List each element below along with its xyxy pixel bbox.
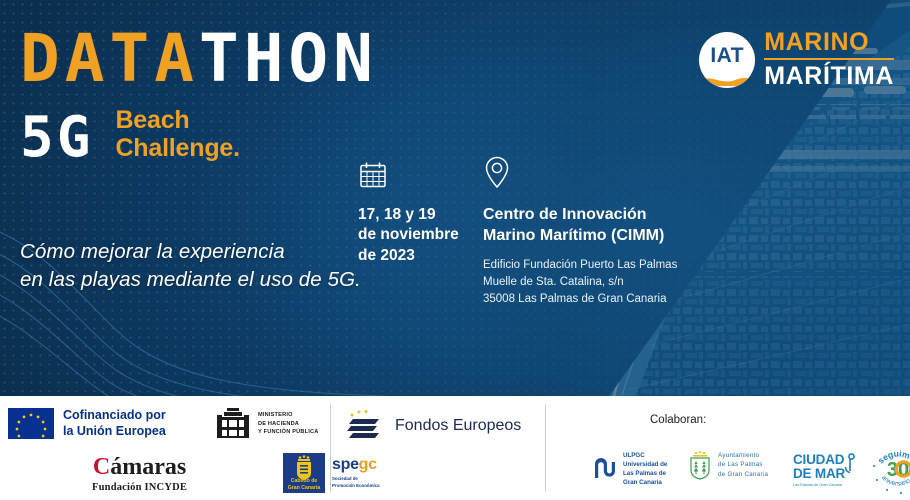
iat-word-maritima: MARÍTIMA [764,64,894,89]
ciudad-de-mar-line-2: DE MAR [793,467,845,481]
ciudad-de-mar-subtitle: Las Palmas de Gran Canaria [793,483,857,487]
fondos-europeos-icon [345,409,385,443]
eu-label: Cofinanciado por la Unión Europea [63,408,166,439]
ministerio-line-3: Y FUNCIÓN PÚBLICA [258,428,318,436]
iat-badge-label: IAT [699,44,755,68]
camaras-incyde-logo: Cámaras Fundación INCYDE [92,455,187,493]
ayuntamiento-label: Ayuntamiento de Las Palmas de Gran Canar… [718,451,768,479]
camaras-initial: C [93,454,110,480]
eu-label-line-1: Cofinanciado por [63,408,166,424]
iat-word-marino: MARINO [764,30,894,60]
challenge-line-2: Challenge. [115,134,239,162]
challenge-line-1: Beach [115,106,239,134]
venue-name-line-1: Centro de Innovación [483,204,698,225]
venue-address-line-2: Muelle de Sta. Catalina, s/n [483,274,698,291]
venue-address-line-3: 35008 Las Palmas de Gran Canaria [483,291,698,308]
ciudad-de-mar-row: CIUDAD DE MAR [793,453,857,481]
page-title: DATATHON [20,26,378,92]
eu-stars-icon [8,408,54,439]
spegc-sub-line-1: Sociedad de [332,476,380,483]
ayuntamiento-line-3: de Gran Canaria [718,470,768,479]
spain-coat-of-arms-icon [215,406,251,442]
calendar-icon [358,160,478,195]
title-part-thon: THON [199,20,378,97]
cabildo-shield-icon [283,453,325,481]
cabildo-line-2: Gran Canaria [283,485,325,492]
iat-wave-icon [699,70,755,86]
tagline-line-2: en las playas mediante el uso de 5G. [20,266,361,294]
european-union-logo: Cofinanciado por la Unión Europea [8,408,166,439]
ministerio-line-1: MINISTERIO [258,411,318,419]
eu-label-line-2: la Unión Europea [63,424,166,440]
tagline-line-1: Cómo mejorar la experiencia [20,238,361,266]
iat-badge-icon: IAT [699,32,755,88]
venue-name: Centro de Innovación Marino Marítimo (CI… [483,204,698,246]
ulpgc-line-4: Gran Canaria [623,479,667,488]
ulpgc-label: ULPGC Universidad de Las Palmas de Gran … [623,452,667,488]
tagline: Cómo mejorar la experiencia en las playa… [20,238,361,295]
anchor-icon [843,453,857,475]
ulpgc-line-3: Las Palmas de [623,470,667,479]
event-date-line-2: de noviembre [358,225,478,245]
venue-address-line-1: Edificio Fundación Puerto Las Palmas [483,257,698,274]
spegc-word-accent: gc [359,456,377,473]
ayuntamiento-line-2: de Las Palmas [718,460,768,469]
event-date-text: 17, 18 y 19 de noviembre de 2023 [358,205,478,266]
spegc-word-main: spe [332,456,359,473]
venue-name-line-2: Marino Marítimo (CIMM) [483,225,698,246]
title-part-data: DATA [20,20,199,97]
ministerio-label: MINISTERIO DE HACIENDA Y FUNCIÓN PÚBLICA [258,411,318,436]
ayuntamiento-shield-icon [687,450,713,480]
colaboran-label: Colaboran: [650,414,706,426]
event-venue-block: Centro de Innovación Marino Marítimo (CI… [483,155,698,307]
ministerio-hacienda-logo: MINISTERIO DE HACIENDA Y FUNCIÓN PÚBLICA [215,406,318,442]
camaras-wordmark: Cámaras [92,455,187,479]
event-date-block: 17, 18 y 19 de noviembre de 2023 [358,160,478,266]
iat-marino-maritima-logo: IAT MARINO MARÍTIMA [699,30,894,89]
poster-title-block: DATATHON 5G Beach Challenge. [20,26,378,166]
hero-section: DATATHON 5G Beach Challenge. Cómo mejora… [0,0,910,396]
ciudad-de-mar-logo: CIUDAD DE MAR Las Palmas de Gran Canaria [793,453,857,487]
ulpgc-line-1: ULPGC [623,452,667,461]
camaras-subtitle: Fundación INCYDE [92,482,187,493]
spegc-sub-line-2: Promoción Económica [332,483,380,490]
map-pin-icon [483,155,698,194]
ayuntamiento-line-1: Ayuntamiento [718,451,768,460]
ayuntamiento-logo: Ayuntamiento de Las Palmas de Gran Canar… [687,450,768,480]
fondos-europeos-label: Fondos Europeos [395,417,521,435]
eu-flag-icon [8,408,54,439]
event-date-line-1: 17, 18 y 19 [358,205,478,225]
datathon-poster: DATATHON 5G Beach Challenge. Cómo mejora… [0,0,910,500]
subtitle-5g: 5G [20,110,93,166]
footer-divider-2 [545,404,546,492]
ciudad-de-mar-line-1: CIUDAD [793,453,845,467]
subtitle-row: 5G Beach Challenge. [20,106,378,166]
cabildo-crest-icon: Cabildo de Gran Canaria [283,453,325,493]
venue-address: Edificio Fundación Puerto Las Palmas Mue… [483,257,698,307]
iat-wordmark: MARINO MARÍTIMA [764,30,894,89]
spegc-logo: spegc Sociedad de Promoción Económica [332,453,380,493]
fondos-europeos-logo: Fondos Europeos [345,409,521,443]
event-date-line-3: de 2023 [358,246,478,266]
ulpgc-swirl-icon [592,457,618,483]
aniversario-badge-logo: seguimos aniversario 30 [869,440,910,498]
cabildo-label: Cabildo de Gran Canaria [283,478,325,491]
challenge-label: Beach Challenge. [115,106,239,162]
ulpgc-logo: ULPGC Universidad de Las Palmas de Gran … [592,452,667,488]
ministerio-line-2: DE HACIENDA [258,420,318,428]
camaras-rest: ámaras [110,454,186,480]
spegc-subtitle: Sociedad de Promoción Económica [332,476,380,489]
spegc-wordmark: spegc [332,457,380,473]
anniversary-badge-icon: seguimos aniversario 30 [869,440,910,498]
cabildo-spegc-logo: Cabildo de Gran Canaria spegc Sociedad d… [283,453,380,493]
ulpgc-line-2: Universidad de [623,461,667,470]
